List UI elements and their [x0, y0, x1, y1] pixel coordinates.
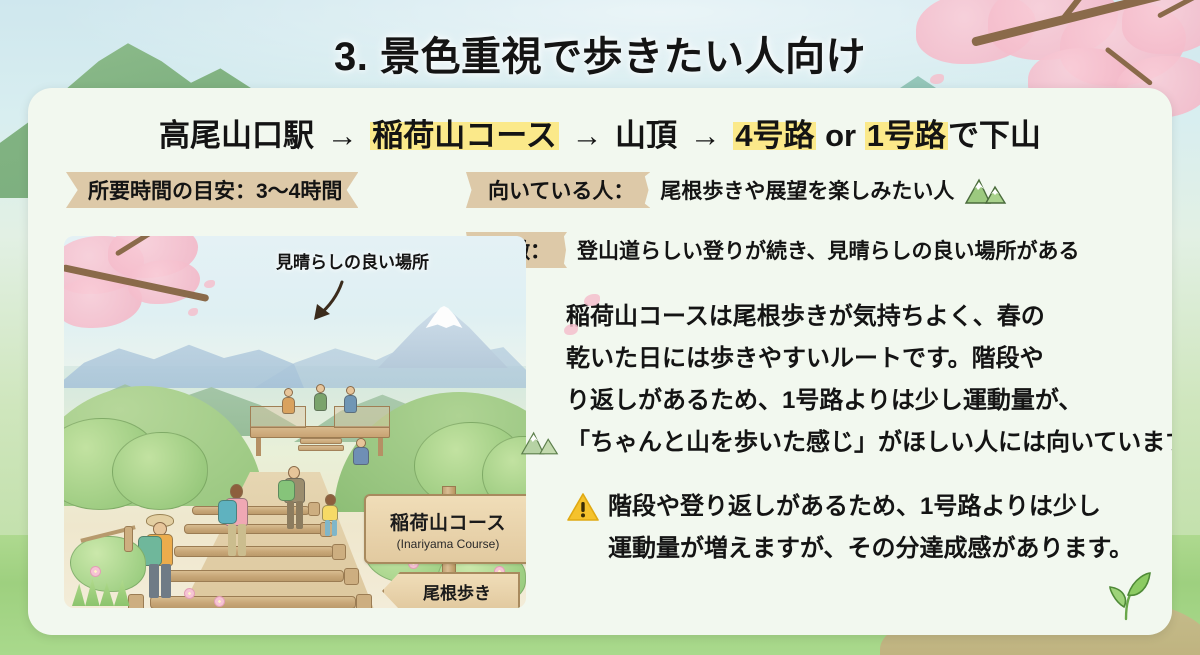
- warning-line-1-highlight: 1号路よりは少し: [920, 493, 1101, 520]
- sign-main-label: 稲荷山コース: [390, 508, 506, 535]
- warning-line-1: 階段や登り返しがあるため、1号路よりは少し: [608, 486, 1133, 528]
- body-line-3: り返しがあるため、1号路よりは少し運動量が、: [566, 380, 1082, 422]
- audience-row: 向いている人： 尾根歩きや展望を楽しみたい人: [466, 172, 1008, 208]
- viewpoint-annotation: 見晴らしの良い場所: [276, 248, 429, 273]
- route-arrow-3: →: [677, 118, 733, 153]
- hiker-adult-with-child: [276, 466, 320, 542]
- warning-triangle-icon: [566, 492, 600, 522]
- illustration-sakura: [64, 236, 242, 340]
- warning-line-1-plain: 階段や登り返しがあるため、: [608, 493, 920, 520]
- warning-line-2: 運動量が増えますが、その分達成感があります。: [608, 528, 1133, 570]
- route-line: 高尾山口駅 → 稲荷山コース → 山頂 → 4号路 or 1号路で下山: [28, 110, 1172, 155]
- route-segment-summit: 山頂: [615, 118, 677, 153]
- route-arrow-1: →: [314, 118, 370, 153]
- route-arrow-2: →: [559, 118, 615, 153]
- audience-value: 尾根歩きや展望を楽しみたい人: [660, 175, 954, 205]
- route-segment-station: 高尾山口駅: [159, 118, 314, 153]
- warning-note: 階段や登り返しがあるため、1号路よりは少し 運動量が増えますが、その分達成感があ…: [566, 486, 1172, 570]
- feature-row: 特徴： 登山道らしい登りが続き、見晴らしの良い場所がある: [466, 232, 1080, 268]
- sign-sub-label: (Inariyama Course): [397, 537, 500, 551]
- annotation-arrow-icon: [308, 280, 348, 322]
- route-segment-descend: で下山: [948, 118, 1041, 153]
- sign-arrow-label: 尾根歩き: [423, 579, 491, 604]
- warning-line-2-plain: が、その分達成感があります。: [800, 535, 1133, 562]
- route-segment-route4: 4号路: [733, 118, 816, 153]
- main-content-card: 高尾山口駅 → 稲荷山コース → 山頂 → 4号路 or 1号路で下山 所要時間…: [28, 88, 1172, 635]
- route-segment-route1: 1号路: [865, 118, 948, 153]
- warning-text-block: 階段や登り返しがあるため、1号路よりは少し 運動量が増えますが、その分達成感があ…: [608, 486, 1133, 570]
- body-line-2: 乾いた日には歩きやすいルートです。階段や: [566, 338, 1044, 380]
- hiker-child: [318, 494, 348, 542]
- page-title: 3. 景色重視で歩きたい人向け: [0, 24, 1200, 82]
- feature-value: 登山道らしい登りが続き、見晴らしの良い場所がある: [577, 235, 1080, 265]
- duration-ribbon: 所要時間の目安：3〜4時間: [66, 172, 358, 208]
- trail-sign-board: 稲荷山コース (Inariyama Course): [364, 494, 526, 564]
- audience-label-ribbon: 向いている人：: [466, 172, 650, 208]
- trail-illustration: 見晴らしの良い場所: [64, 236, 526, 608]
- mountain-icon: [520, 428, 560, 456]
- trail-sign-arrow: 尾根歩き: [382, 572, 520, 608]
- route-segment-inariyama: 稲荷山コース: [370, 118, 558, 153]
- warning-line-2-highlight: 運動量が増えます: [608, 535, 800, 562]
- hiker-distant: [350, 438, 376, 482]
- hiker-middle: [216, 484, 264, 568]
- infographic-canvas: 3. 景色重視で歩きたい人向け 高尾山口駅 → 稲荷山コース → 山頂 → 4号…: [0, 0, 1200, 655]
- body-line-1: 稲荷山コースは尾根歩きが気持ちよく、春の: [566, 296, 1045, 338]
- body-line-4: 「ちゃんと山を歩いた感じ」がほしい人には向いています。: [566, 422, 1172, 464]
- mountain-icon: [964, 175, 1008, 205]
- route-segment-or: or: [816, 118, 864, 153]
- leaf-sprout-icon: [1102, 567, 1152, 621]
